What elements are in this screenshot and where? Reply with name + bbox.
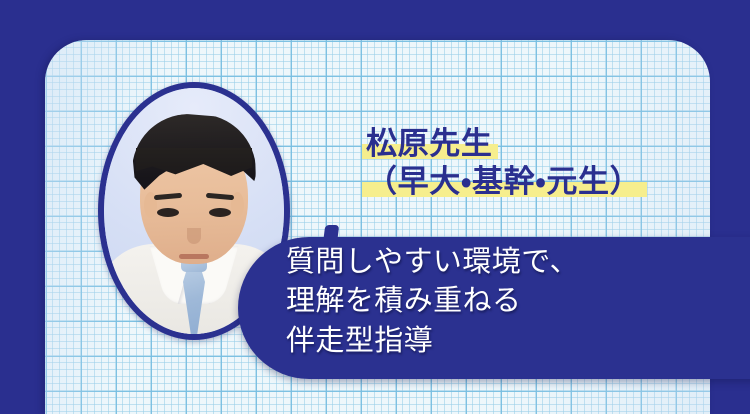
teacher-name-text: 松原先生 bbox=[366, 126, 492, 161]
portrait-eye-right bbox=[209, 208, 231, 217]
speech-bubble: 質問しやすい環境で、 理解を積み重ねる 伴走型指導 bbox=[238, 237, 750, 379]
portrait-nose bbox=[187, 228, 201, 244]
portrait-mouth bbox=[179, 254, 209, 259]
profile-card-banner: 松原先生 （早大・基幹・元生） 質問しやすい環境で、 理解を積み重ねる 伴走型指… bbox=[0, 0, 750, 414]
speech-bubble-tail bbox=[323, 225, 339, 245]
teacher-name: 松原先生 bbox=[366, 126, 492, 162]
bubble-line-1: 質問しやすい環境で、 bbox=[286, 243, 579, 282]
teacher-affiliation-text: （早大・基幹・元生） bbox=[366, 164, 641, 199]
speech-bubble-text: 質問しやすい環境で、 理解を積み重ねる 伴走型指導 bbox=[286, 243, 579, 361]
bubble-line-3: 伴走型指導 bbox=[286, 322, 579, 361]
portrait-eye-left bbox=[157, 208, 179, 217]
bubble-line-2: 理解を積み重ねる bbox=[286, 282, 579, 321]
teacher-affiliation: （早大・基幹・元生） bbox=[366, 164, 641, 200]
teacher-name-block: 松原先生 （早大・基幹・元生） bbox=[366, 126, 750, 200]
